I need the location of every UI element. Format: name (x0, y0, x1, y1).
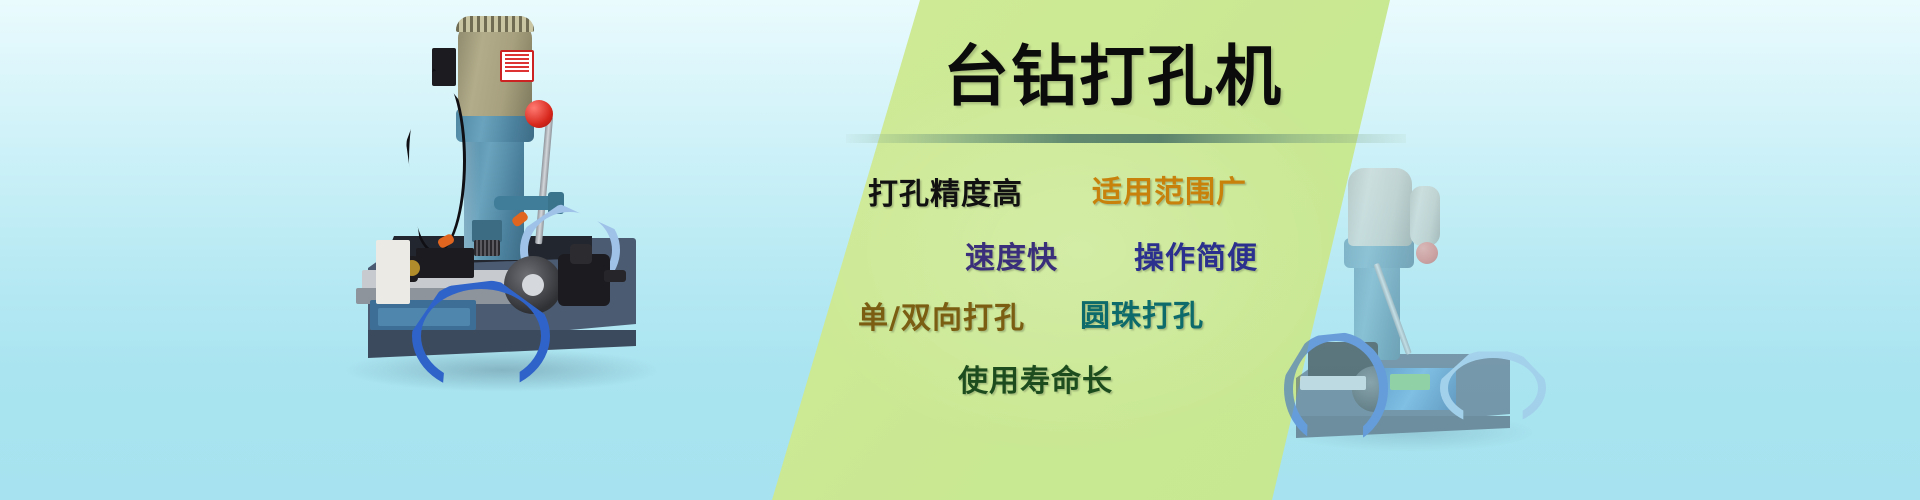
bench-drill-machine-secondary (1290, 160, 1540, 460)
page-title: 台钻打孔机 (943, 36, 1283, 116)
bench-drill-machine-primary (352, 8, 652, 378)
feature-wide-application: 适用范围广 (1092, 176, 1247, 210)
feature-long-service-life: 使用寿命长 (958, 365, 1113, 399)
feature-single-double-drilling: 单/双向打孔 (858, 302, 1025, 336)
product-banner: 台钻打孔机 打孔精度高 适用范围广 速度快 操作简便 单/双向打孔 圆珠打孔 使… (0, 0, 1920, 500)
feature-ball-drilling: 圆珠打孔 (1080, 300, 1204, 334)
feature-fast-speed: 速度快 (965, 242, 1058, 276)
title-divider-rule (846, 134, 1406, 143)
feature-easy-operation: 操作简便 (1134, 242, 1258, 276)
feature-drilling-precision: 打孔精度高 (868, 178, 1023, 212)
